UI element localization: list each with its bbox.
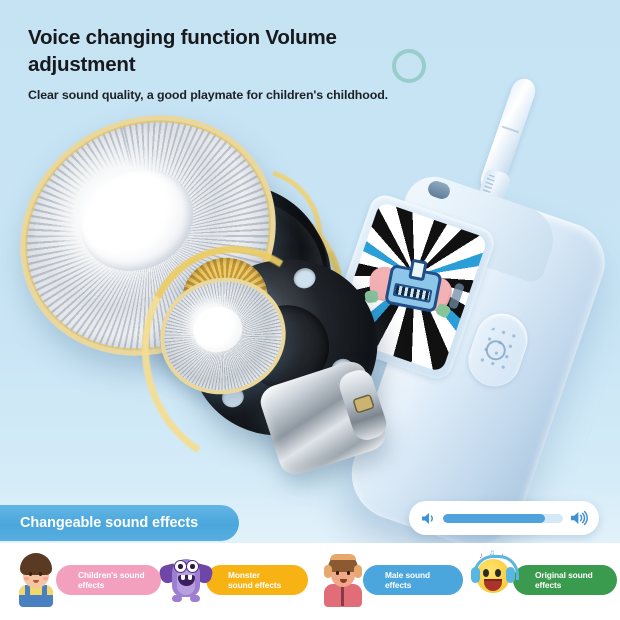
effect-label: Children's sound effects — [78, 570, 144, 591]
speaker-low-icon — [420, 511, 437, 526]
emoji-avatar: ♪♫♪ — [465, 551, 521, 607]
effect-label: Monster sound effects — [228, 570, 281, 591]
effect-pill[interactable]: Monster sound effects — [206, 565, 308, 595]
sound-effects-strip: Children's sound effects Monster sound e… — [0, 543, 620, 620]
effect-label: Male sound effects — [385, 570, 430, 591]
effect-pill[interactable]: Male sound effects — [363, 565, 463, 595]
effect-pill[interactable]: Children's sound effects — [56, 565, 161, 595]
volume-track[interactable] — [443, 514, 563, 523]
product-infographic: Voice changing function Volume adjustmen… — [0, 0, 620, 620]
effect-pill[interactable]: Original sound effects — [513, 565, 617, 595]
boy-avatar — [8, 551, 64, 607]
banner-label: Changeable sound effects — [0, 515, 198, 531]
monster-avatar — [158, 551, 214, 607]
changeable-sound-effects-banner: Changeable sound effects — [0, 505, 239, 541]
volume-fill — [443, 514, 545, 523]
man-avatar — [315, 551, 371, 607]
effect-label: Original sound effects — [535, 570, 593, 591]
volume-slider[interactable] — [409, 501, 599, 535]
exploded-speaker-assembly — [0, 110, 400, 470]
speaker-high-icon — [569, 510, 588, 526]
